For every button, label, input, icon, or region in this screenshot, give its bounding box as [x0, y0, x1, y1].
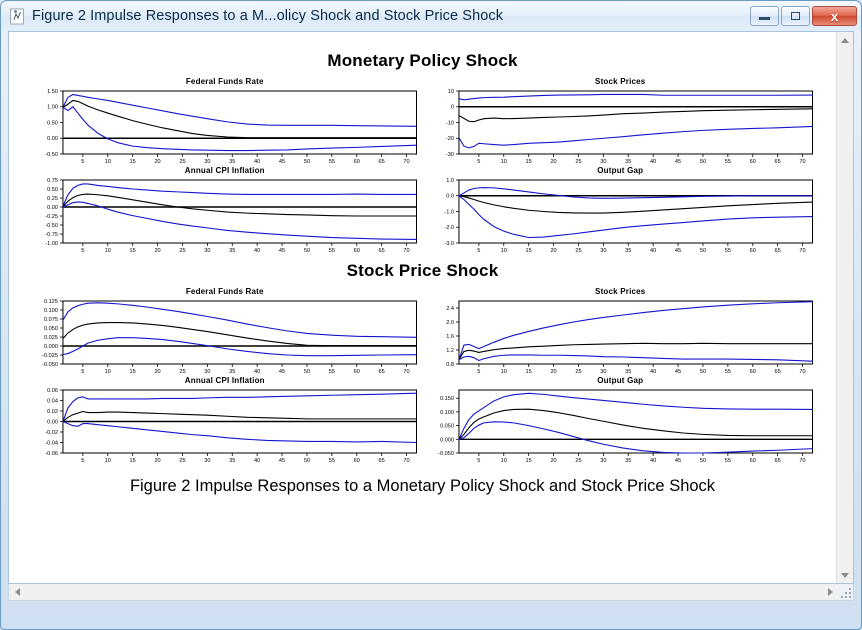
svg-text:0.25: 0.25 [47, 196, 58, 202]
svg-text:0.075: 0.075 [44, 317, 58, 323]
svg-text:5: 5 [477, 458, 480, 464]
svg-text:-2.0: -2.0 [444, 225, 454, 231]
svg-text:60: 60 [354, 248, 360, 254]
chart-cell-sp-stock-prices: Stock Prices 0.81.21.62.02.4510152025303… [423, 287, 819, 376]
svg-text:-0.25: -0.25 [45, 214, 58, 220]
svg-text:15: 15 [525, 458, 531, 464]
svg-text:60: 60 [749, 458, 755, 464]
svg-text:20: 20 [154, 248, 160, 254]
chart-row-2: Annual CPI Inflation -1.00-0.75-0.50-0.2… [27, 166, 818, 255]
svg-text:20: 20 [550, 248, 556, 254]
svg-text:0.125: 0.125 [44, 299, 58, 305]
chart-row-3: Federal Funds Rate -0.050-0.0250.0000.02… [27, 287, 818, 376]
svg-text:30: 30 [600, 248, 606, 254]
svg-text:0.00: 0.00 [47, 136, 58, 142]
svg-text:70: 70 [799, 458, 805, 464]
chart-title: Output Gap [425, 376, 817, 385]
svg-text:10: 10 [500, 369, 506, 375]
chart-cell-sp-output-gap: Output Gap -0.0500.0000.0500.1000.150510… [423, 376, 819, 465]
svg-text:35: 35 [625, 458, 631, 464]
svg-text:45: 45 [279, 159, 285, 165]
svg-text:60: 60 [749, 369, 755, 375]
svg-text:35: 35 [229, 369, 235, 375]
svg-text:0.0: 0.0 [446, 194, 454, 200]
chart-row-1: Federal Funds Rate -0.500.000.501.001.50… [27, 77, 818, 166]
chart-sp-annual-cpi-inflation[interactable]: -0.06-0.04-0.020.000.020.040.06510152025… [29, 387, 421, 465]
chart-cell-mp-federal-funds-rate: Federal Funds Rate -0.500.000.501.001.50… [27, 77, 423, 166]
svg-text:50: 50 [699, 369, 705, 375]
svg-text:0.025: 0.025 [44, 335, 58, 341]
svg-text:0.150: 0.150 [440, 396, 454, 402]
svg-text:70: 70 [799, 248, 805, 254]
svg-text:1.00: 1.00 [47, 105, 58, 111]
chart-sp-federal-funds-rate[interactable]: -0.050-0.0250.0000.0250.0500.0750.1000.1… [29, 298, 421, 376]
svg-text:65: 65 [774, 369, 780, 375]
chart-mp-federal-funds-rate[interactable]: -0.500.000.501.001.505101520253035404550… [29, 88, 421, 166]
svg-text:-0.025: -0.025 [42, 353, 58, 359]
svg-text:10: 10 [500, 159, 506, 165]
chart-mp-stock-prices[interactable]: -30-20-10010510152025303540455055606570 [425, 88, 817, 166]
svg-text:20: 20 [154, 369, 160, 375]
svg-text:50: 50 [699, 248, 705, 254]
chart-mp-output-gap[interactable]: -3.0-2.0-1.00.01.05101520253035404550556… [425, 177, 817, 255]
svg-text:0.000: 0.000 [44, 344, 58, 350]
svg-text:1.0: 1.0 [446, 178, 454, 184]
close-button[interactable]: x [812, 6, 857, 26]
svg-text:10: 10 [500, 458, 506, 464]
svg-text:25: 25 [575, 159, 581, 165]
svg-text:5: 5 [81, 159, 84, 165]
chart-mp-annual-cpi-inflation[interactable]: -1.00-0.75-0.50-0.250.000.250.500.755101… [29, 177, 421, 255]
svg-text:50: 50 [304, 369, 310, 375]
svg-text:25: 25 [179, 159, 185, 165]
svg-text:65: 65 [379, 159, 385, 165]
svg-text:45: 45 [674, 458, 680, 464]
figure-root: Monetary Policy Shock Federal Funds Rate… [9, 32, 836, 583]
svg-text:-3.0: -3.0 [444, 241, 454, 247]
chart-cell-sp-annual-cpi-inflation: Annual CPI Inflation -0.06-0.04-0.020.00… [27, 376, 423, 465]
svg-text:70: 70 [403, 458, 409, 464]
svg-text:55: 55 [329, 369, 335, 375]
vertical-scrollbar[interactable] [836, 32, 853, 583]
svg-text:70: 70 [403, 248, 409, 254]
svg-text:-30: -30 [445, 152, 453, 158]
svg-text:55: 55 [329, 458, 335, 464]
svg-text:65: 65 [774, 159, 780, 165]
chart-title: Output Gap [425, 166, 817, 175]
svg-text:15: 15 [130, 369, 136, 375]
svg-text:20: 20 [550, 458, 556, 464]
svg-text:55: 55 [329, 248, 335, 254]
svg-text:60: 60 [354, 369, 360, 375]
svg-text:5: 5 [477, 369, 480, 375]
svg-text:40: 40 [650, 159, 656, 165]
svg-text:60: 60 [749, 159, 755, 165]
svg-text:70: 70 [403, 369, 409, 375]
svg-text:15: 15 [525, 248, 531, 254]
svg-text:45: 45 [674, 248, 680, 254]
svg-text:40: 40 [254, 248, 260, 254]
svg-text:2.4: 2.4 [446, 306, 454, 312]
svg-text:45: 45 [279, 458, 285, 464]
svg-text:5: 5 [81, 458, 84, 464]
svg-text:-0.50: -0.50 [45, 223, 58, 229]
application-window: Figure 2 Impulse Responses to a M...olic… [0, 0, 862, 630]
svg-text:30: 30 [204, 159, 210, 165]
chart-cell-mp-stock-prices: Stock Prices -30-20-10010510152025303540… [423, 77, 819, 166]
svg-text:15: 15 [130, 248, 136, 254]
svg-text:70: 70 [799, 159, 805, 165]
svg-text:40: 40 [254, 159, 260, 165]
svg-text:25: 25 [575, 369, 581, 375]
svg-text:10: 10 [500, 248, 506, 254]
svg-text:15: 15 [130, 159, 136, 165]
svg-text:-0.050: -0.050 [438, 451, 454, 457]
horizontal-scrollbar[interactable] [8, 584, 854, 601]
client-area: Monetary Policy Shock Federal Funds Rate… [8, 31, 854, 601]
svg-text:0.000: 0.000 [440, 437, 454, 443]
svg-text:30: 30 [600, 369, 606, 375]
svg-text:50: 50 [699, 458, 705, 464]
svg-text:0.00: 0.00 [47, 205, 58, 211]
svg-text:0.04: 0.04 [47, 398, 58, 404]
svg-text:1.50: 1.50 [47, 89, 58, 95]
svg-text:15: 15 [525, 369, 531, 375]
svg-text:55: 55 [724, 369, 730, 375]
minimize-icon [759, 17, 770, 20]
svg-text:1.6: 1.6 [446, 334, 454, 340]
svg-text:30: 30 [204, 369, 210, 375]
svg-text:-1.0: -1.0 [444, 209, 454, 215]
svg-text:-20: -20 [445, 136, 453, 142]
svg-text:25: 25 [179, 369, 185, 375]
scroll-right-button[interactable] [822, 584, 838, 600]
svg-text:0.06: 0.06 [47, 388, 58, 394]
svg-text:10: 10 [105, 369, 111, 375]
chevron-down-icon [841, 573, 849, 578]
svg-text:40: 40 [650, 248, 656, 254]
chevron-left-icon [15, 588, 20, 596]
svg-text:5: 5 [81, 248, 84, 254]
svg-text:55: 55 [724, 458, 730, 464]
svg-text:5: 5 [477, 159, 480, 165]
document-page: Monetary Policy Shock Federal Funds Rate… [9, 32, 836, 583]
chevron-up-icon [841, 38, 849, 43]
close-icon: x [831, 10, 838, 23]
chart-sp-output-gap[interactable]: -0.0500.0000.0500.1000.15051015202530354… [425, 387, 817, 465]
svg-text:30: 30 [204, 458, 210, 464]
svg-text:15: 15 [130, 458, 136, 464]
chart-sp-stock-prices[interactable]: 0.81.21.62.02.45101520253035404550556065… [425, 298, 817, 376]
svg-text:-1.00: -1.00 [45, 241, 58, 247]
svg-text:0.100: 0.100 [440, 410, 454, 416]
maximize-icon [791, 12, 800, 20]
svg-text:0.00: 0.00 [47, 419, 58, 425]
svg-text:40: 40 [254, 458, 260, 464]
svg-text:60: 60 [749, 248, 755, 254]
svg-text:30: 30 [204, 248, 210, 254]
svg-text:25: 25 [575, 248, 581, 254]
svg-text:40: 40 [254, 369, 260, 375]
svg-text:10: 10 [105, 458, 111, 464]
svg-text:45: 45 [674, 369, 680, 375]
document-figure-icon [9, 8, 26, 25]
minimize-button[interactable] [750, 6, 779, 26]
section-title-stock-price-shock: Stock Price Shock [27, 261, 818, 281]
chart-title: Federal Funds Rate [29, 77, 421, 86]
vertical-scroll-track[interactable] [837, 48, 853, 567]
chart-title: Stock Prices [425, 77, 817, 86]
scroll-left-button[interactable] [9, 584, 25, 600]
svg-text:-0.050: -0.050 [42, 362, 58, 368]
svg-text:60: 60 [354, 458, 360, 464]
svg-text:25: 25 [575, 458, 581, 464]
svg-text:70: 70 [403, 159, 409, 165]
chart-title: Annual CPI Inflation [29, 166, 421, 175]
svg-text:-0.02: -0.02 [45, 430, 58, 436]
svg-text:55: 55 [724, 248, 730, 254]
chevron-right-icon [828, 588, 833, 596]
svg-text:60: 60 [354, 159, 360, 165]
svg-text:50: 50 [699, 159, 705, 165]
svg-text:0.50: 0.50 [47, 187, 58, 193]
svg-text:45: 45 [279, 369, 285, 375]
svg-text:35: 35 [625, 248, 631, 254]
svg-text:30: 30 [600, 458, 606, 464]
svg-text:5: 5 [477, 248, 480, 254]
svg-text:-0.06: -0.06 [45, 451, 58, 457]
svg-text:55: 55 [724, 159, 730, 165]
svg-text:40: 40 [650, 458, 656, 464]
svg-text:10: 10 [105, 159, 111, 165]
chart-title: Annual CPI Inflation [29, 376, 421, 385]
svg-text:35: 35 [625, 159, 631, 165]
svg-text:45: 45 [674, 159, 680, 165]
chart-row-4: Annual CPI Inflation -0.06-0.04-0.020.00… [27, 376, 818, 465]
svg-text:50: 50 [304, 159, 310, 165]
svg-text:0.02: 0.02 [47, 409, 58, 415]
svg-text:65: 65 [774, 458, 780, 464]
svg-text:0.75: 0.75 [47, 178, 58, 184]
section-title-monetary-policy-shock: Monetary Policy Shock [27, 51, 818, 71]
scroll-down-button[interactable] [837, 567, 853, 583]
svg-text:25: 25 [179, 458, 185, 464]
maximize-button[interactable] [781, 6, 810, 26]
svg-text:5: 5 [81, 369, 84, 375]
svg-text:-10: -10 [445, 120, 453, 126]
svg-text:-0.50: -0.50 [45, 152, 58, 158]
svg-text:0.100: 0.100 [44, 308, 58, 314]
svg-text:-0.04: -0.04 [45, 440, 58, 446]
svg-text:35: 35 [229, 458, 235, 464]
svg-text:25: 25 [179, 248, 185, 254]
title-bar[interactable]: Figure 2 Impulse Responses to a M...olic… [1, 1, 861, 31]
chart-title: Federal Funds Rate [29, 287, 421, 296]
svg-text:50: 50 [304, 248, 310, 254]
chart-cell-sp-federal-funds-rate: Federal Funds Rate -0.050-0.0250.0000.02… [27, 287, 423, 376]
scroll-up-button[interactable] [837, 32, 853, 48]
chart-cell-mp-annual-cpi-inflation: Annual CPI Inflation -1.00-0.75-0.50-0.2… [27, 166, 423, 255]
svg-text:35: 35 [229, 159, 235, 165]
svg-text:0.50: 0.50 [47, 120, 58, 126]
svg-text:40: 40 [650, 369, 656, 375]
svg-text:-0.75: -0.75 [45, 232, 58, 238]
svg-text:10: 10 [447, 89, 453, 95]
horizontal-scroll-track[interactable] [25, 584, 822, 600]
svg-text:65: 65 [379, 248, 385, 254]
svg-text:20: 20 [550, 369, 556, 375]
svg-text:20: 20 [154, 458, 160, 464]
svg-text:65: 65 [379, 458, 385, 464]
svg-text:65: 65 [379, 369, 385, 375]
svg-text:15: 15 [525, 159, 531, 165]
chart-title: Stock Prices [425, 287, 817, 296]
svg-text:2.0: 2.0 [446, 320, 454, 326]
svg-text:20: 20 [154, 159, 160, 165]
svg-text:0.050: 0.050 [44, 326, 58, 332]
svg-text:55: 55 [329, 159, 335, 165]
svg-text:30: 30 [600, 159, 606, 165]
svg-text:65: 65 [774, 248, 780, 254]
svg-text:50: 50 [304, 458, 310, 464]
svg-text:0.050: 0.050 [440, 424, 454, 430]
chart-cell-mp-output-gap: Output Gap -3.0-2.0-1.00.01.051015202530… [423, 166, 819, 255]
svg-text:35: 35 [625, 369, 631, 375]
window-controls: x [750, 6, 857, 26]
svg-text:20: 20 [550, 159, 556, 165]
svg-text:1.2: 1.2 [446, 348, 454, 354]
svg-text:70: 70 [799, 369, 805, 375]
document-viewport: Monetary Policy Shock Federal Funds Rate… [8, 31, 854, 584]
figure-caption: Figure 2 Impulse Responses to a Monetary… [27, 477, 818, 496]
svg-text:35: 35 [229, 248, 235, 254]
window-title: Figure 2 Impulse Responses to a M...olic… [32, 8, 750, 24]
svg-text:0: 0 [450, 105, 453, 111]
svg-text:0.8: 0.8 [446, 362, 454, 368]
svg-text:10: 10 [105, 248, 111, 254]
resize-grip[interactable] [838, 584, 853, 600]
svg-text:45: 45 [279, 248, 285, 254]
